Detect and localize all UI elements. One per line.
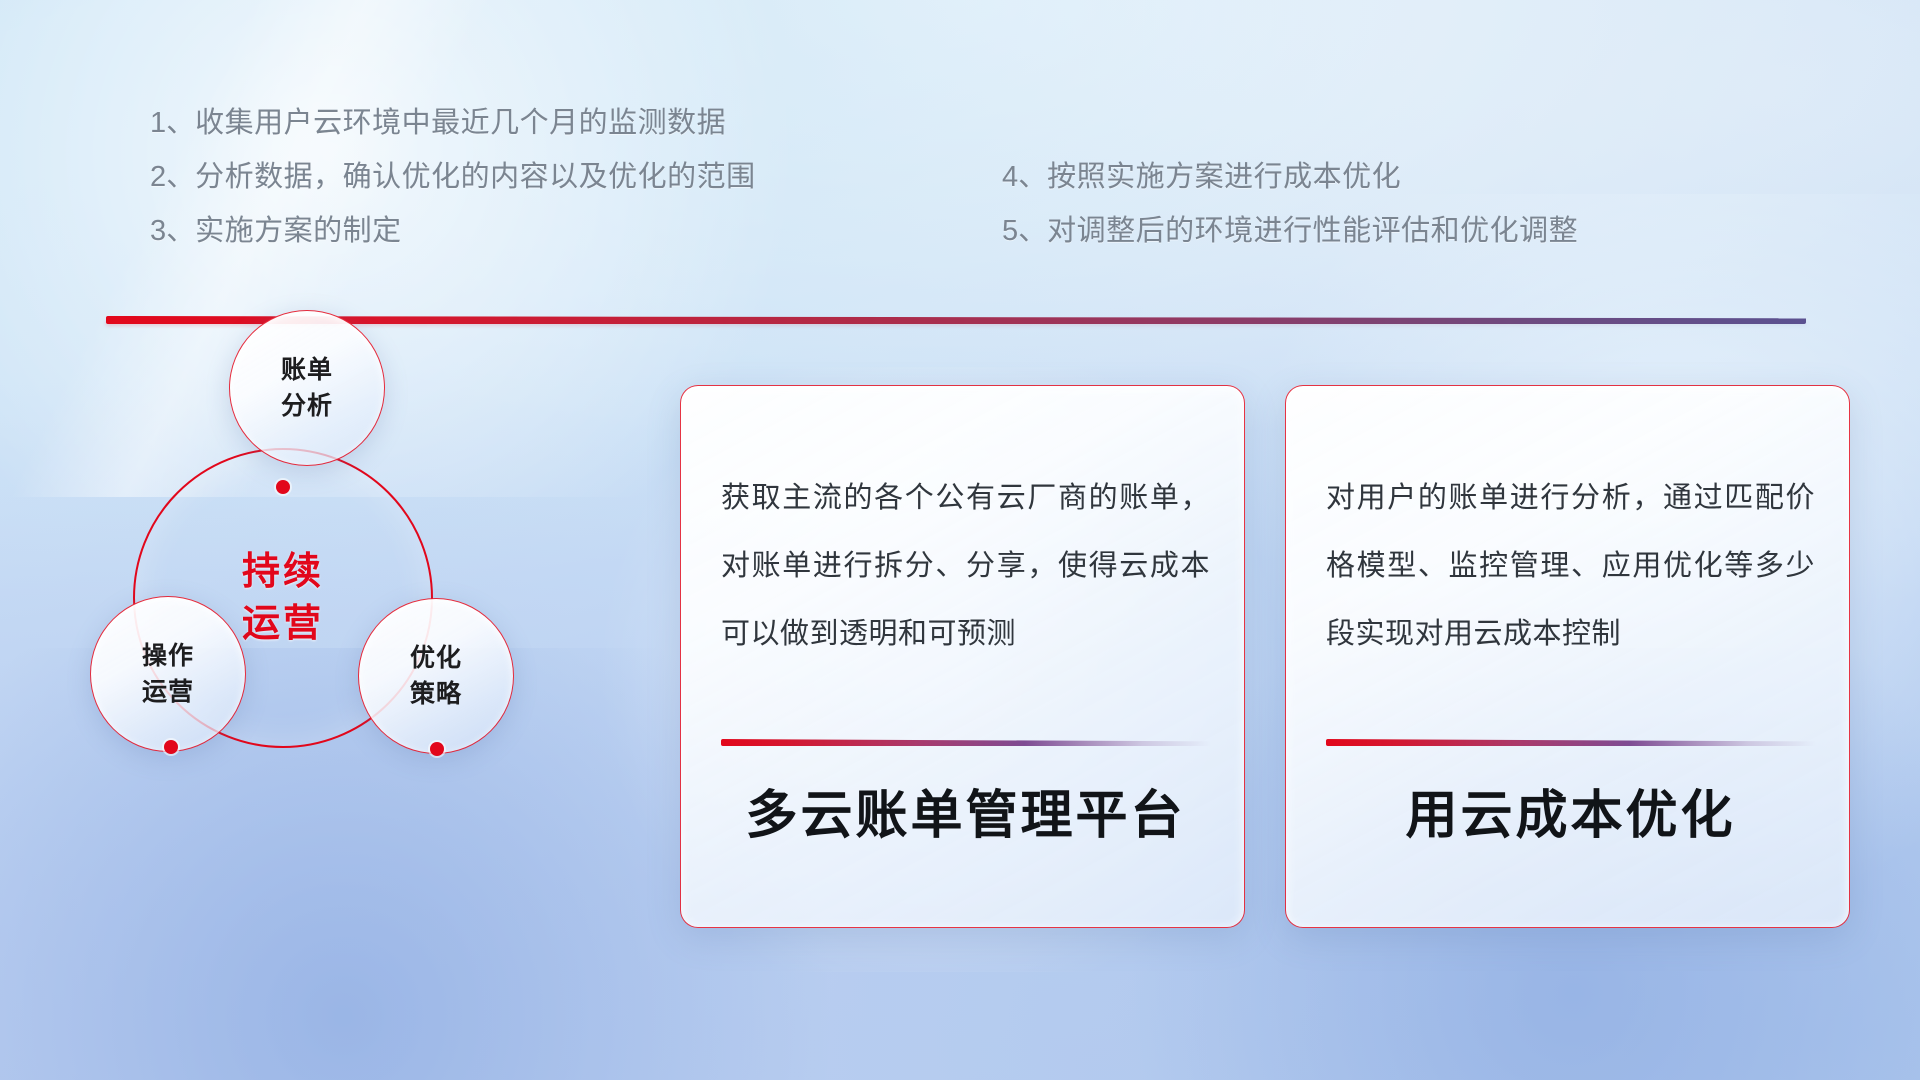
venn-node-bill-analysis-line1: 账单	[230, 352, 384, 388]
step-number-1: 1、	[150, 107, 195, 139]
step-item-5: 5、对调整后的环境进行性能评估和优化调整	[1002, 204, 1578, 258]
venn-node-bill-analysis[interactable]: 账单 分析	[229, 310, 385, 466]
step-text-4: 按照实施方案进行成本优化	[1047, 161, 1401, 193]
venn-center-line1: 持续	[242, 546, 324, 598]
steps-right-column: 4、按照实施方案进行成本优化 5、对调整后的环境进行性能评估和优化调整	[1002, 150, 1578, 258]
step-item-1: 1、收集用户云环境中最近几个月的监测数据	[150, 96, 756, 150]
step-number-2: 2、	[150, 161, 195, 193]
venn-diagram: 持续 运营 账单 分析 操作 运营 优化 策略	[95, 340, 565, 960]
venn-node-operations[interactable]: 操作 运营	[90, 596, 246, 752]
card-multi-cloud-billing-body: 获取主流的各个公有云厂商的账单，对账单进行拆分、分享，使得云成本可以做到透明和可…	[721, 464, 1210, 668]
venn-node-optimization-strategy-line2: 策略	[359, 676, 513, 712]
venn-node-operations-label: 操作 运营	[91, 638, 245, 710]
venn-node-operations-line2: 运营	[91, 674, 245, 710]
step-number-4: 4、	[1002, 161, 1047, 193]
venn-node-bill-analysis-line2: 分析	[230, 388, 384, 424]
step-text-2: 分析数据，确认优化的内容以及优化的范围	[195, 161, 756, 193]
step-text-5: 对调整后的环境进行性能评估和优化调整	[1047, 215, 1578, 247]
step-item-4: 4、按照实施方案进行成本优化	[1002, 150, 1578, 204]
step-item-2: 2、分析数据，确认优化的内容以及优化的范围	[150, 150, 756, 204]
card-cloud-cost-optimization-rule	[1326, 739, 1816, 746]
venn-connector-dot-top	[276, 480, 290, 494]
card-multi-cloud-billing-rule	[721, 739, 1211, 746]
venn-connector-dot-left	[164, 740, 178, 754]
card-cloud-cost-optimization[interactable]: 对用户的账单进行分析，通过匹配价格模型、监控管理、应用优化等多少段实现对用云成本…	[1285, 385, 1850, 928]
steps-left-column: 1、收集用户云环境中最近几个月的监测数据 2、分析数据，确认优化的内容以及优化的…	[150, 96, 756, 258]
venn-node-optimization-strategy-label: 优化 策略	[359, 640, 513, 712]
venn-node-optimization-strategy-line1: 优化	[359, 640, 513, 676]
step-number-5: 5、	[1002, 215, 1047, 247]
card-cloud-cost-optimization-title: 用云成本优化	[1326, 781, 1815, 851]
divider-bar	[106, 316, 1806, 324]
venn-node-optimization-strategy[interactable]: 优化 策略	[358, 598, 514, 754]
step-text-1: 收集用户云环境中最近几个月的监测数据	[195, 107, 726, 139]
step-number-3: 3、	[150, 215, 195, 247]
venn-node-operations-line1: 操作	[91, 638, 245, 674]
venn-center-line2: 运营	[242, 598, 324, 650]
card-cloud-cost-optimization-body: 对用户的账单进行分析，通过匹配价格模型、监控管理、应用优化等多少段实现对用云成本…	[1326, 464, 1815, 668]
card-multi-cloud-billing-title: 多云账单管理平台	[721, 781, 1210, 851]
venn-connector-dot-right	[430, 742, 444, 756]
card-multi-cloud-billing[interactable]: 获取主流的各个公有云厂商的账单，对账单进行拆分、分享，使得云成本可以做到透明和可…	[680, 385, 1245, 928]
venn-node-bill-analysis-label: 账单 分析	[230, 352, 384, 424]
step-text-3: 实施方案的制定	[195, 215, 402, 247]
step-item-3: 3、实施方案的制定	[150, 204, 756, 258]
section-divider	[106, 316, 1806, 324]
